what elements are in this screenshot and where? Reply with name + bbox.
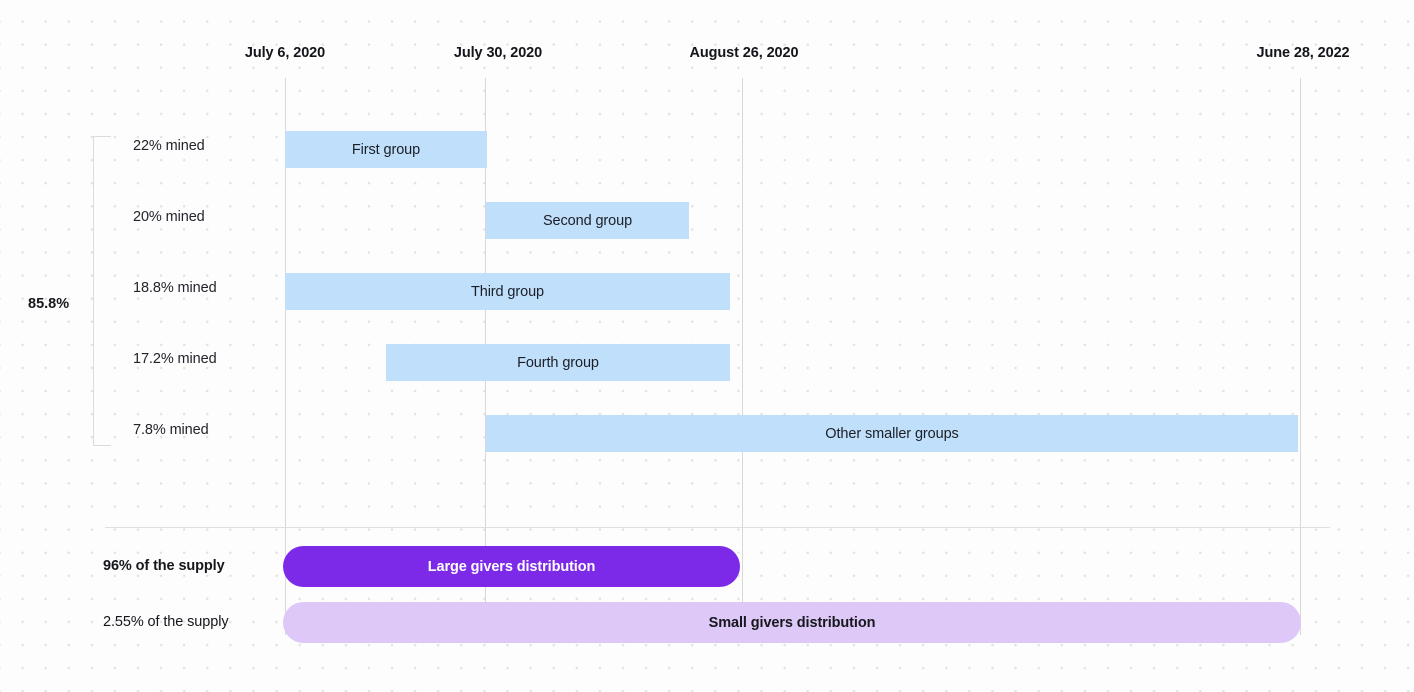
bar-label-second-group: Second group bbox=[543, 213, 632, 229]
gridline-june-28 bbox=[1300, 78, 1301, 635]
bar-label-third-group: Third group bbox=[471, 284, 544, 300]
axis-label-august-26: August 26, 2020 bbox=[690, 45, 799, 61]
axis-label-june-28: June 28, 2022 bbox=[1256, 45, 1349, 61]
bar-large-givers[interactable]: Large givers distribution bbox=[283, 546, 740, 587]
bar-small-givers[interactable]: Small givers distribution bbox=[283, 602, 1301, 643]
bar-label-large-givers: Large givers distribution bbox=[428, 559, 596, 575]
row-label-other-groups: 7.8% mined bbox=[133, 422, 209, 438]
bar-third-group[interactable]: Third group bbox=[285, 273, 730, 310]
row-label-first-group: 22% mined bbox=[133, 138, 205, 154]
bracket-total-label: 85.8% bbox=[28, 296, 69, 312]
row-label-third-group: 18.8% mined bbox=[133, 280, 217, 296]
bar-other-smaller-groups[interactable]: Other smaller groups bbox=[486, 415, 1298, 452]
row-label-large-givers: 96% of the supply bbox=[103, 558, 225, 574]
section-divider bbox=[105, 527, 1330, 528]
bar-second-group[interactable]: Second group bbox=[486, 202, 689, 239]
bar-label-first-group: First group bbox=[352, 142, 420, 158]
timeline-chart: July 6, 2020 July 30, 2020 August 26, 20… bbox=[0, 0, 1414, 692]
bar-first-group[interactable]: First group bbox=[285, 131, 487, 168]
bar-label-fourth-group: Fourth group bbox=[517, 355, 599, 371]
bar-label-small-givers: Small givers distribution bbox=[709, 615, 876, 631]
bar-fourth-group[interactable]: Fourth group bbox=[386, 344, 730, 381]
group-bracket bbox=[93, 136, 111, 446]
row-label-small-givers: 2.55% of the supply bbox=[103, 614, 228, 630]
bar-label-other-groups: Other smaller groups bbox=[825, 426, 958, 442]
row-label-second-group: 20% mined bbox=[133, 209, 205, 225]
axis-label-july-6: July 6, 2020 bbox=[245, 45, 325, 61]
gridline-august-26 bbox=[742, 78, 743, 635]
axis-label-july-30: July 30, 2020 bbox=[454, 45, 542, 61]
row-label-fourth-group: 17.2% mined bbox=[133, 351, 217, 367]
